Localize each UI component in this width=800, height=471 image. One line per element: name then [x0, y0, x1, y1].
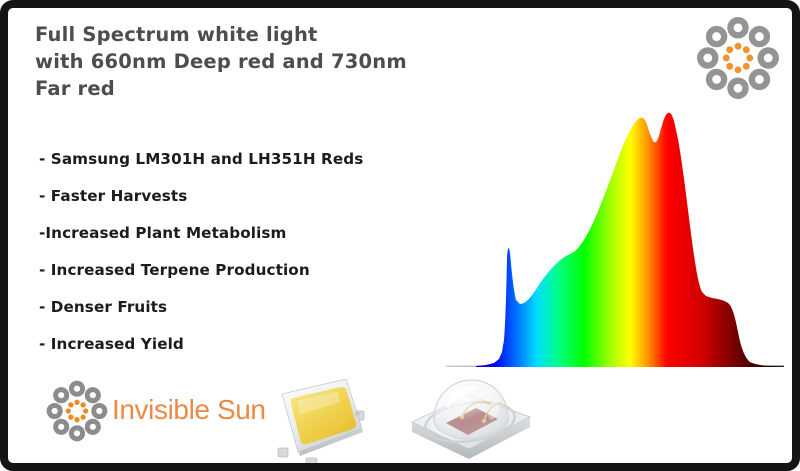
- list-item: -Increased Plant Metabolism: [39, 225, 419, 262]
- white-led-package: [262, 370, 374, 470]
- page-title: Full Spectrum white light with 660nm Dee…: [35, 21, 455, 102]
- deep-red-led-package: [406, 375, 536, 471]
- sun-rings-logo-icon: [696, 16, 780, 100]
- brand-wordmark: Invisible Sun: [112, 394, 266, 426]
- slide-canvas: Full Spectrum white light with 660nm Dee…: [0, 0, 800, 471]
- list-item: - Denser Fruits: [39, 299, 419, 336]
- list-item: - Increased Yield: [39, 336, 419, 373]
- list-item: - Faster Harvests: [39, 188, 419, 225]
- list-item: - Increased Terpene Production: [39, 262, 419, 299]
- list-item: - Samsung LM301H and LH351H Reds: [39, 151, 419, 188]
- spectrum-curve: [476, 113, 784, 367]
- spectral-power-distribution-chart: [436, 94, 786, 379]
- sun-rings-logo-icon: [46, 380, 108, 442]
- feature-bullet-list: - Samsung LM301H and LH351H Reds - Faste…: [39, 151, 419, 373]
- brand-logo: Invisible Sun: [46, 380, 266, 442]
